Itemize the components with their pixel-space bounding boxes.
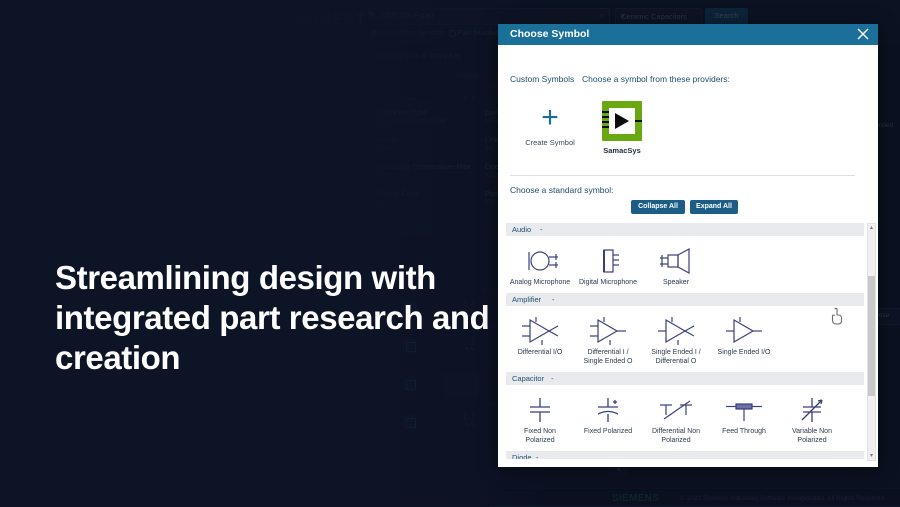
hero-overlay: Streamlining design with integrated part… — [0, 0, 560, 506]
dialog-title: Choose Symbol — [510, 28, 589, 40]
plus-icon: + — [522, 103, 578, 133]
single-ended-io-symbol — [710, 314, 778, 348]
differential-i-single-ended-o-symbol — [574, 314, 642, 348]
providers-label: Choose a symbol from these providers: — [582, 74, 730, 84]
divider — [510, 175, 855, 176]
symbol-label: Feed Through — [710, 427, 778, 436]
standard-symbol-label: Choose a standard symbol: — [510, 185, 613, 195]
symbol-label: Analog Microphone — [506, 278, 574, 287]
symbol-single-ended-io[interactable]: Single Ended I/O — [710, 314, 778, 366]
symbol-feed-through[interactable]: Feed Through — [710, 393, 778, 445]
section-title-audio: Audio — [512, 225, 531, 234]
fixed-polarized-symbol — [574, 393, 642, 427]
symbol-fixed-polarized[interactable]: Fixed Polarized — [574, 393, 642, 445]
single-ended-i-differential-o-symbol — [642, 314, 710, 348]
search-button[interactable]: Search — [705, 8, 748, 25]
symbol-label: Speaker — [642, 278, 710, 287]
symbol-differential-i-single-ended-o[interactable]: Differential I / Single Ended O — [574, 314, 642, 366]
symbol-label: Variable Non Polarized — [778, 427, 846, 445]
symbol-label: Single Ended I / Differential O — [642, 348, 710, 366]
collapse-all-button[interactable]: Collapse All — [631, 200, 685, 214]
symbol-label: Differential I / Single Ended O — [574, 348, 642, 366]
section-title-diode: Diode — [512, 453, 532, 459]
close-icon[interactable] — [856, 27, 870, 41]
scrollbar-thumb[interactable] — [868, 276, 875, 396]
symbol-differential-non-polarized[interactable]: Differential Non Polarized — [642, 393, 710, 445]
dialog-title-bar: Choose Symbol — [498, 24, 878, 45]
clear-icon[interactable]: ○ — [599, 11, 604, 20]
section-body-capacitor: Fixed Non Polarized Fixed Polarized — [506, 385, 864, 451]
section-toggle-amplifier[interactable]: - — [552, 295, 555, 304]
section-toggle-audio[interactable]: - — [540, 225, 543, 234]
section-toggle-capacitor[interactable]: - — [551, 374, 554, 383]
symbol-list-scrollbar[interactable]: ▴ ▾ — [867, 223, 876, 461]
scroll-down-icon[interactable]: ▾ — [868, 452, 875, 460]
symbol-list[interactable]: Audio - Analog Microphone — [506, 223, 864, 459]
scroll-up-icon[interactable]: ▴ — [868, 224, 875, 232]
choose-symbol-dialog: Choose Symbol Custom Symbols Choose a sy… — [498, 24, 878, 467]
section-header-audio[interactable]: Audio - — [506, 223, 864, 236]
digital-microphone-symbol — [574, 244, 642, 278]
section-title-capacitor: Capacitor — [512, 374, 544, 383]
create-symbol-label: Create Symbol — [522, 138, 578, 147]
differential-non-polarized-symbol — [642, 393, 710, 427]
provider-samacsys-button[interactable]: SamacSys — [594, 101, 650, 155]
fixed-non-polarized-symbol — [506, 393, 574, 427]
provider-label: SamacSys — [594, 146, 650, 155]
symbol-label: Differential I/O — [506, 348, 574, 357]
section-body-amplifier: Differential I/O Differential I / Single… — [506, 306, 864, 372]
variable-non-polarized-symbol — [778, 393, 846, 427]
expand-all-button[interactable]: Expand All — [690, 200, 738, 214]
symbol-speaker[interactable]: Speaker — [642, 244, 710, 287]
pointing-hand-cursor — [830, 307, 844, 330]
symbol-digital-microphone[interactable]: Digital Microphone — [574, 244, 642, 287]
feed-through-symbol — [710, 393, 778, 427]
symbol-differential-io[interactable]: Differential I/O — [506, 314, 574, 366]
section-header-amplifier[interactable]: Amplifier - — [506, 293, 864, 306]
symbol-label: Fixed Non Polarized — [506, 427, 574, 445]
symbol-label: Digital Microphone — [574, 278, 642, 287]
create-symbol-button[interactable]: + Create Symbol — [522, 103, 578, 147]
symbol-analog-microphone[interactable]: Analog Microphone — [506, 244, 574, 287]
chevron-down-icon: ▾ — [621, 12, 697, 20]
differential-io-symbol — [506, 314, 574, 348]
section-toggle-diode[interactable]: - — [536, 453, 539, 459]
symbol-label: Fixed Polarized — [574, 427, 642, 436]
custom-symbols-label: Custom Symbols — [510, 74, 574, 84]
dialog-body: Custom Symbols Choose a symbol from thes… — [498, 45, 878, 467]
expand-all-label: Expand All — [690, 203, 738, 210]
collapse-all-label: Collapse All — [631, 203, 685, 210]
copyright-text: © 2023 Siemens Industries Software Incor… — [680, 495, 886, 502]
search-button-label: Search — [705, 11, 748, 20]
symbol-label: Differential Non Polarized — [642, 427, 710, 445]
siemens-logo: SIEMENS — [612, 493, 659, 504]
symbol-label: Single Ended I/O — [710, 348, 778, 357]
section-header-capacitor[interactable]: Capacitor - — [506, 372, 864, 385]
hero-title: Streamlining design with integrated part… — [55, 258, 495, 378]
section-title-amplifier: Amplifier — [512, 295, 541, 304]
analog-microphone-symbol — [506, 244, 574, 278]
speaker-symbol — [642, 244, 710, 278]
symbol-variable-non-polarized[interactable]: Variable Non Polarized — [778, 393, 846, 445]
symbol-single-ended-i-differential-o[interactable]: Single Ended I / Differential O — [642, 314, 710, 366]
symbol-fixed-non-polarized[interactable]: Fixed Non Polarized — [506, 393, 574, 445]
chip-icon — [602, 101, 642, 141]
section-header-diode[interactable]: Diode - — [506, 451, 864, 459]
section-body-audio: Analog Microphone Digital Microphone — [506, 236, 864, 293]
